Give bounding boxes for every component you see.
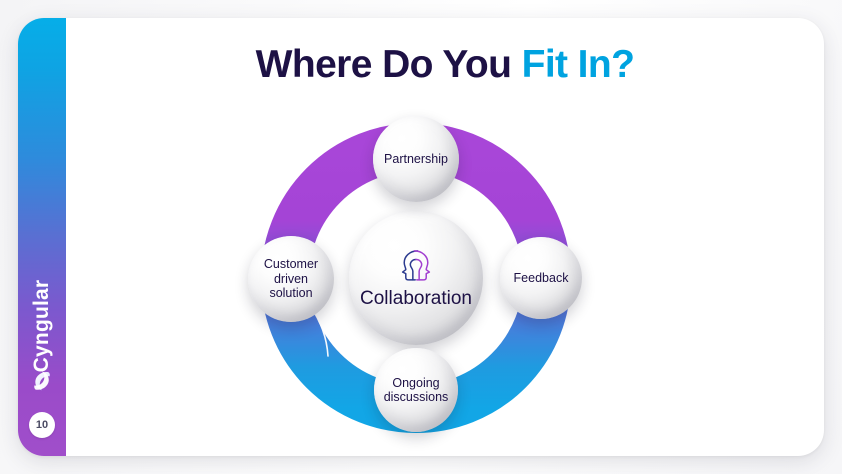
node-customer-driven-solution-line3: solution [269,286,312,300]
node-customer-driven-solution-line1: Customer [264,257,318,271]
node-customer-driven-solution[interactable]: Customer driven solution [248,236,334,322]
node-collaboration[interactable]: Collaboration [349,211,483,345]
page-title-accent: Fit In? [522,43,635,86]
cyngular-swirl-logo-icon [29,368,55,394]
node-feedback[interactable]: Feedback [500,237,582,319]
page-title: Where Do You Fit In? [66,44,824,86]
page-title-primary: Where Do You [256,43,522,86]
two-heads-collaboration-icon [394,246,438,284]
brand-wordmark: Cyngular [30,280,54,373]
node-partnership-label: Partnership [378,152,454,167]
node-ongoing-discussions-line2: discussions [384,390,449,404]
node-ongoing-discussions-label: Ongoing discussions [378,376,455,405]
node-customer-driven-solution-line2: driven [274,272,308,286]
node-ongoing-discussions[interactable]: Ongoing discussions [374,348,458,432]
node-partnership[interactable]: Partnership [373,116,459,202]
node-collaboration-label: Collaboration [354,288,478,310]
node-ongoing-discussions-line1: Ongoing [392,376,439,390]
node-feedback-label: Feedback [508,271,575,286]
brand-side-rail: Cyngular 10 [18,18,66,456]
page-number-badge: 10 [29,412,55,438]
slide-stage: Cyngular 10 Where Do You Fit In? [0,0,842,474]
node-customer-driven-solution-label: Customer driven solution [258,257,324,301]
collaboration-cycle-diagram: Collaboration Partnership Feedback Ongoi… [248,108,594,438]
